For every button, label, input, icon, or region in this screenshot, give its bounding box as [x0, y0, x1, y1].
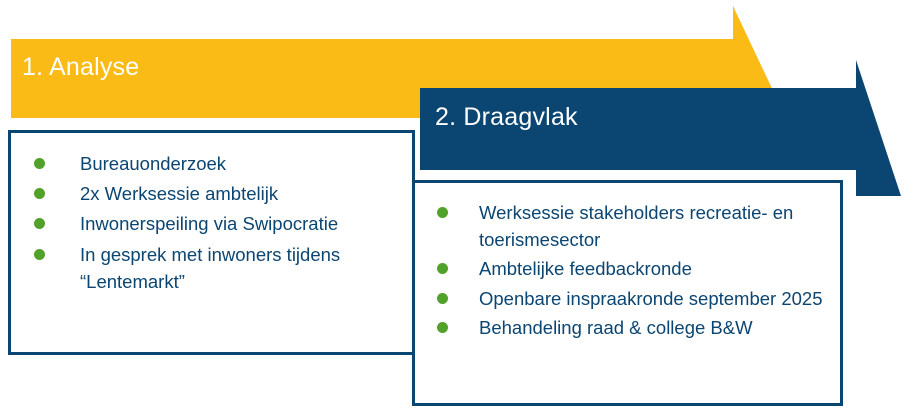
list-item: Inwonerspeiling via Swipocratie [25, 210, 398, 237]
list-item-label: Inwonerspeiling via Swipocratie [80, 210, 398, 237]
phase-2-label: 2. Draagvlak [435, 103, 578, 132]
list-item: In gesprek met inwoners tijdens “Lentema… [25, 241, 398, 295]
phase-1-content-box: Bureauonderzoek 2x Werksessie ambtelijk … [8, 130, 415, 355]
list-item: Behandeling raad & college B&W [429, 314, 828, 341]
list-item-label: In gesprek met inwoners tijdens “Lentema… [80, 241, 398, 295]
list-item: 2x Werksessie ambtelijk [25, 180, 398, 207]
list-item-label: Bureauonderzoek [80, 150, 398, 177]
bullet-dot-icon [437, 293, 448, 304]
bullet-dot-icon [437, 322, 448, 333]
list-item-label: Behandeling raad & college B&W [479, 314, 828, 341]
phase-2-bullet-list: Werksessie stakeholders recreatie- en to… [415, 183, 840, 341]
list-item-label: Werksessie stakeholders recreatie- en to… [479, 199, 828, 253]
list-item: Ambtelijke feedbackronde [429, 255, 828, 282]
process-phases-diagram: 1. Analyse 2. Draagvlak Bureauonderzoek … [0, 0, 904, 409]
phase-1-bullet-list: Bureauonderzoek 2x Werksessie ambtelijk … [11, 133, 412, 295]
phase-1-label: 1. Analyse [22, 53, 139, 82]
bullet-dot-icon [34, 218, 45, 229]
list-item-label: Openbare inspraakronde september 2025 [479, 285, 828, 312]
bullet-dot-icon [437, 207, 448, 218]
bullet-dot-icon [437, 263, 448, 274]
bullet-dot-icon [34, 158, 45, 169]
list-item: Bureauonderzoek [25, 150, 398, 177]
list-item-label: Ambtelijke feedbackronde [479, 255, 828, 282]
list-item: Openbare inspraakronde september 2025 [429, 285, 828, 312]
bullet-dot-icon [34, 249, 45, 260]
list-item-label: 2x Werksessie ambtelijk [80, 180, 398, 207]
bullet-dot-icon [34, 188, 45, 199]
list-item: Werksessie stakeholders recreatie- en to… [429, 199, 828, 253]
phase-2-content-box: Werksessie stakeholders recreatie- en to… [412, 180, 843, 406]
